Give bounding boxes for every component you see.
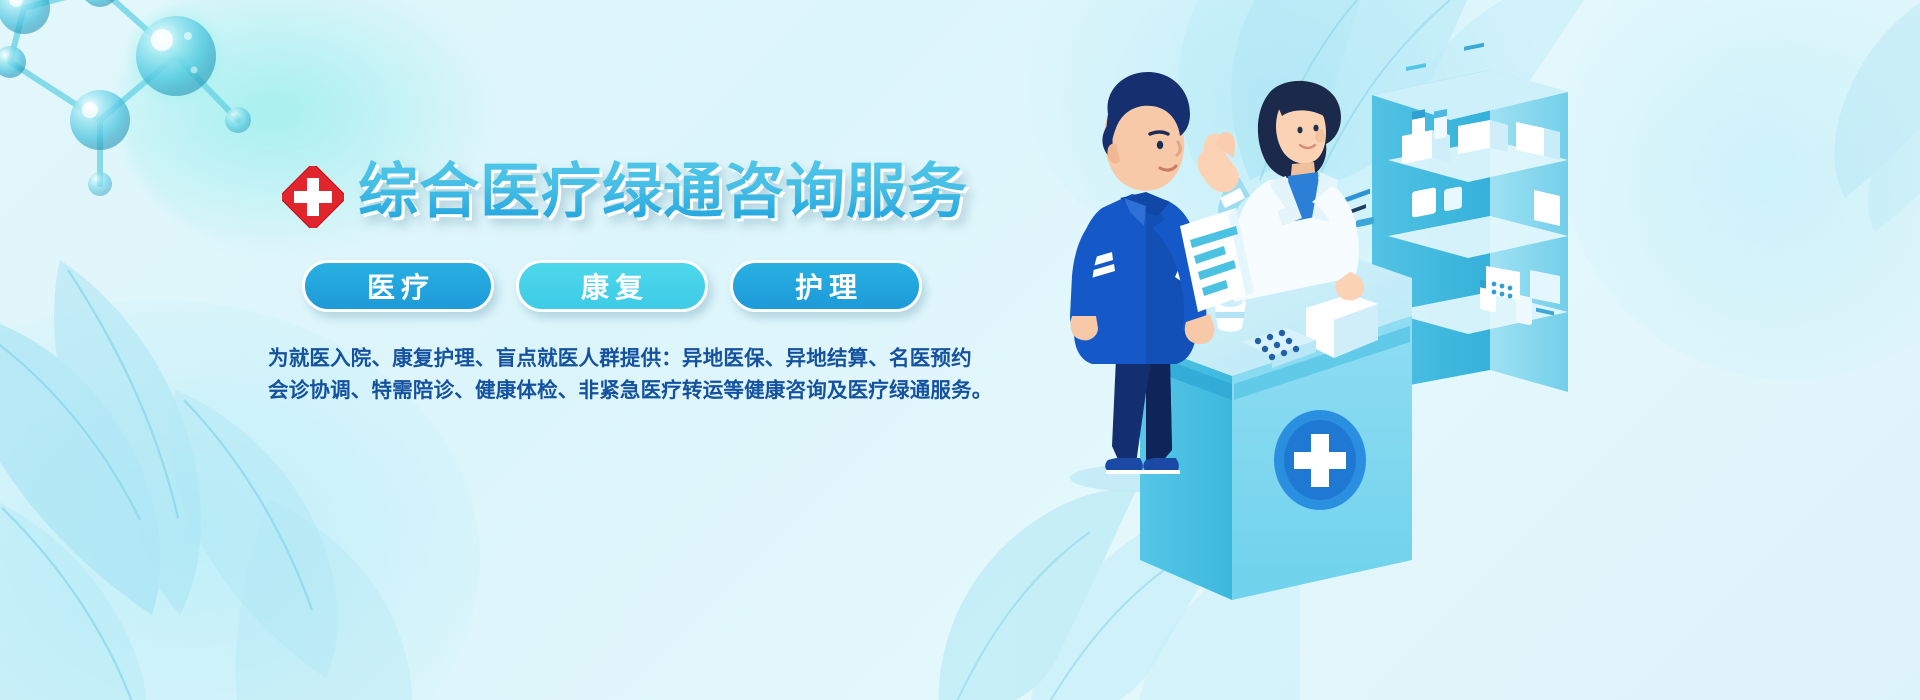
background-glow-right (1560, 0, 1920, 380)
title-row: 综合医疗绿通咨询服务 (266, 160, 1006, 232)
service-tag-label: 康复 (575, 266, 649, 306)
banner-description: 为就医入院、康复护理、盲点就医人群提供：异地医保、异地结算、名医预约 会诊协调、… (268, 342, 998, 406)
molecule-structure (0, 0, 310, 220)
medical-cross-badge-icon (282, 166, 344, 228)
flower-silhouette-right-edge (1660, 0, 1920, 240)
banner-text-block: 综合医疗绿通咨询服务 医疗 康复 护理 为就医入院、康复护理、盲点就医人群提供：… (266, 160, 1006, 232)
page-title: 综合医疗绿通咨询服务 (358, 156, 968, 228)
description-line-2: 会诊协调、特需陪诊、健康体检、非紧急医疗转运等健康咨询及医疗绿通服务。 (268, 374, 998, 406)
medical-service-banner: 综合医疗绿通咨询服务 医疗 康复 护理 为就医入院、康复护理、盲点就医人群提供：… (0, 0, 1920, 700)
pharmacy-counter-scene (1020, 40, 1580, 700)
service-tag-label: 医疗 (361, 266, 435, 306)
service-tag-medical[interactable]: 医疗 (302, 260, 494, 312)
counter-cross-emblem (1274, 410, 1366, 510)
description-line-1: 为就医入院、康复护理、盲点就医人群提供：异地医保、异地结算、名医预约 (268, 342, 998, 374)
service-tag-rehab[interactable]: 康复 (516, 260, 708, 312)
service-tag-label: 护理 (789, 266, 863, 306)
service-tag-row: 医疗 康复 护理 (302, 260, 922, 312)
flower-silhouette-bottom-left (0, 250, 500, 700)
service-tag-nursing[interactable]: 护理 (730, 260, 922, 312)
